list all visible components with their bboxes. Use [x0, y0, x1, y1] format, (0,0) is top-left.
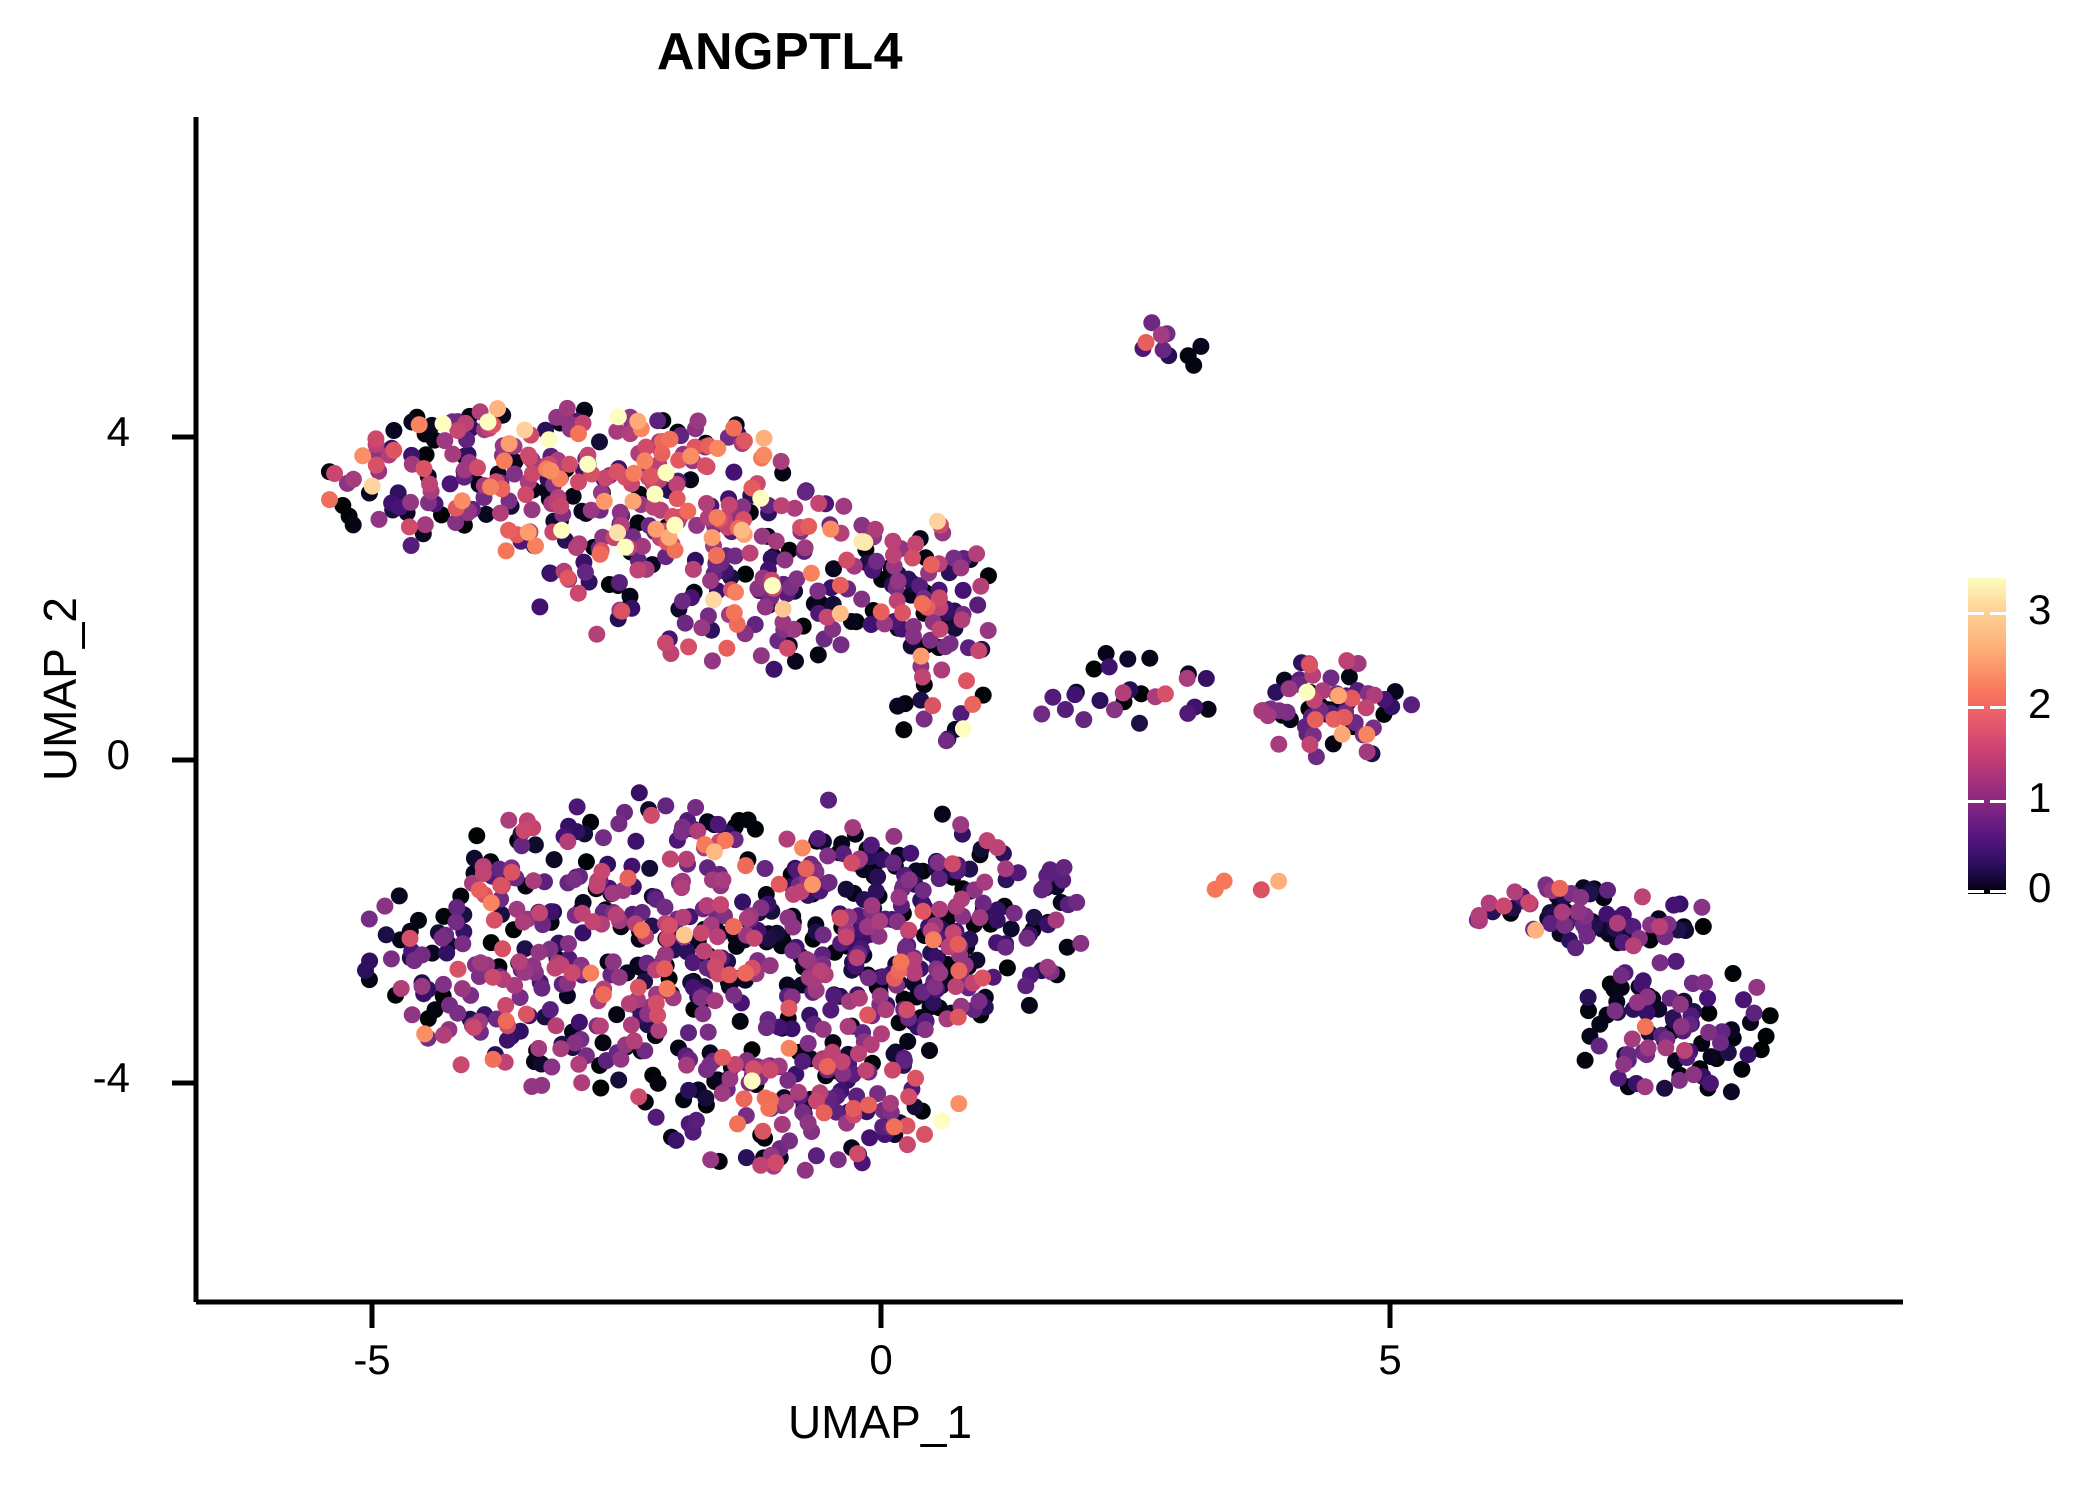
scatter-point [1676, 1042, 1693, 1059]
scatter-point [972, 578, 989, 595]
scatter-point [1762, 1007, 1779, 1024]
scatter-point [704, 529, 721, 546]
scatter-point [501, 435, 518, 452]
scatter-point [421, 476, 438, 493]
scatter-point [815, 926, 832, 943]
scatter-point [1733, 1061, 1750, 1078]
scatter-point [950, 962, 967, 979]
scatter-point [610, 815, 627, 832]
scatter-point [687, 799, 704, 816]
scatter-point [833, 636, 850, 653]
scatter-point [697, 457, 714, 474]
scatter-point [673, 824, 690, 841]
plot-area [0, 0, 2100, 1500]
scatter-point [725, 464, 742, 481]
scatter-point [840, 1018, 857, 1035]
scatter-point [1075, 711, 1092, 728]
scatter-point [820, 792, 837, 809]
scatter-point [709, 509, 726, 526]
scatter-point [1157, 685, 1174, 702]
y-tick-label-neg4: -4 [10, 1054, 130, 1102]
scatter-point [886, 1118, 903, 1135]
scatter-point [714, 1049, 731, 1066]
scatter-point [756, 430, 773, 447]
scatter-point [955, 582, 972, 599]
scatter-point [593, 863, 610, 880]
scatter-point [376, 898, 393, 915]
scatter-point [1656, 1080, 1673, 1097]
scatter-point [798, 951, 815, 968]
scatter-point [543, 1059, 560, 1076]
scatter-point [673, 879, 690, 896]
scatter-point [1702, 1075, 1719, 1092]
scatter-point [449, 422, 466, 439]
scatter-point [629, 413, 646, 430]
scatter-point [947, 978, 964, 995]
scatter-point [863, 837, 880, 854]
scatter-point [810, 646, 827, 663]
scatter-point [767, 1154, 784, 1171]
scatter-point [627, 833, 644, 850]
scatter-point [800, 518, 817, 535]
scatter-point [630, 979, 647, 996]
scatter-point [853, 533, 870, 550]
scatter-point [649, 1007, 666, 1024]
scatter-point [385, 442, 402, 459]
scatter-point [1580, 989, 1597, 1006]
scatter-point [1301, 736, 1318, 753]
scatter-point [752, 1157, 769, 1174]
scatter-point [727, 584, 744, 601]
scatter-point [757, 860, 774, 877]
scatter-point [989, 912, 1006, 929]
scatter-point [676, 926, 693, 943]
scatter-point [1253, 881, 1270, 898]
scatter-point [999, 959, 1016, 976]
scatter-point [548, 1017, 565, 1034]
scatter-point [1048, 912, 1065, 929]
scatter-point [513, 837, 530, 854]
scatter-point [737, 566, 754, 583]
scatter-point [1570, 903, 1587, 920]
scatter-point [500, 522, 517, 539]
scatter-point [816, 1104, 833, 1121]
scatter-point [819, 1058, 836, 1075]
scatter-point [518, 1006, 535, 1023]
scatter-point [815, 1021, 832, 1038]
legend-tick-mark-1-left [1968, 800, 1984, 803]
scatter-point [698, 495, 715, 512]
scatter-point [454, 492, 471, 509]
scatter-point [643, 807, 660, 824]
scatter-point [402, 930, 419, 947]
scatter-point [757, 599, 774, 616]
scatter-point [674, 593, 691, 610]
scatter-point [609, 463, 626, 480]
scatter-point [774, 1116, 791, 1133]
scatter-point [480, 414, 497, 431]
scatter-point [435, 415, 452, 432]
scatter-point [486, 912, 503, 929]
scatter-point [904, 550, 921, 567]
scatter-point [1551, 880, 1568, 897]
y-axis-title: UMAP_2 [33, 349, 87, 1029]
scatter-point [1198, 670, 1215, 687]
scatter-point [980, 622, 997, 639]
scatter-point [435, 1027, 452, 1044]
scatter-point [844, 819, 861, 836]
scatter-point [630, 1088, 647, 1105]
scatter-point [1153, 326, 1170, 343]
scatter-point [744, 1072, 761, 1089]
scatter-point [326, 465, 343, 482]
scatter-point [725, 987, 742, 1004]
scatter-point [434, 930, 451, 947]
scatter-point [1640, 1039, 1657, 1056]
scatter-point [678, 851, 695, 868]
scatter-point [718, 640, 735, 657]
scatter-point [1131, 715, 1148, 732]
scatter-point [579, 456, 596, 473]
scatter-point [929, 513, 946, 530]
scatter-point [1017, 977, 1034, 994]
scatter-point [636, 452, 653, 469]
scatter-point [1101, 658, 1118, 675]
scatter-point [402, 494, 419, 511]
scatter-point [1637, 1078, 1654, 1095]
scatter-point [678, 1057, 695, 1074]
scatter-point [704, 652, 721, 669]
scatter-point [1685, 1066, 1702, 1083]
scatter-point [788, 570, 805, 587]
scatter-point [1039, 959, 1056, 976]
scatter-point [1527, 922, 1544, 939]
x-tick-label-neg5: -5 [312, 1336, 432, 1384]
umap-feature-plot: ANGPTL4 4 0 -4 -5 0 5 UMAP_1 UMAP_2 3 [0, 0, 2100, 1500]
scatter-point [775, 601, 792, 618]
scatter-point [361, 953, 378, 970]
scatter-point [595, 829, 612, 846]
scatter-point [950, 1009, 967, 1026]
scatter-point [706, 843, 723, 860]
scatter-point [1281, 680, 1298, 697]
scatter-point [371, 511, 388, 528]
scatter-point [742, 545, 759, 562]
scatter-point [530, 1040, 547, 1057]
scatter-point [851, 990, 868, 1007]
scatter-point [656, 960, 673, 977]
scatter-point [414, 978, 431, 995]
scatter-point [766, 661, 783, 678]
scatter-point [952, 559, 969, 576]
scatter-point [725, 420, 742, 437]
scatter-point [832, 577, 849, 594]
scatter-point [1572, 889, 1589, 906]
scatter-point [649, 412, 666, 429]
scatter-point [584, 913, 601, 930]
scatter-point [882, 1095, 899, 1112]
scatter-point [849, 949, 866, 966]
scatter-point [822, 1002, 839, 1019]
scatter-point [914, 595, 931, 612]
scatter-point [971, 993, 988, 1010]
scatter-point [547, 960, 564, 977]
scatter-point [570, 425, 587, 442]
scatter-point [931, 901, 948, 918]
scatter-point [496, 452, 513, 469]
scatter-point [417, 516, 434, 533]
scatter-point [1665, 897, 1682, 914]
scatter-point [595, 1034, 612, 1051]
scatter-point [707, 992, 724, 1009]
scatter-point [752, 490, 769, 507]
scatter-point [1068, 894, 1085, 911]
scatter-point [1672, 996, 1689, 1013]
scatter-point [809, 583, 826, 600]
scatter-point [979, 832, 996, 849]
scatter-point [625, 493, 642, 510]
scatter-point [907, 1070, 924, 1087]
scatter-point [1066, 686, 1083, 703]
scatter-point [685, 561, 702, 578]
scatter-point [626, 1032, 643, 1049]
scatter-point [401, 518, 418, 535]
scatter-point [1735, 991, 1752, 1008]
scatter-point [492, 505, 509, 522]
scatter-point [938, 732, 955, 749]
scatter-point [901, 871, 918, 888]
scatter-point [1495, 898, 1512, 915]
scatter-point [1359, 743, 1376, 760]
scatter-point [798, 860, 815, 877]
scatter-point [485, 1051, 502, 1068]
scatter-point [860, 1097, 877, 1114]
scatter-point [873, 603, 890, 620]
scatter-point [666, 517, 683, 534]
scatter-point [804, 876, 821, 893]
scatter-point [693, 925, 710, 942]
scatter-point [361, 911, 378, 928]
scatter-point [542, 1001, 559, 1018]
scatter-point [591, 433, 608, 450]
scatter-point [812, 963, 829, 980]
scatter-point [773, 453, 790, 470]
legend-tick-mark-0-right [1990, 890, 2006, 893]
scatter-point [830, 1151, 847, 1168]
scatter-point [454, 935, 471, 952]
scatter-point [934, 1112, 951, 1129]
scatter-point [561, 456, 578, 473]
scatter-point [697, 1090, 714, 1107]
scatter-point [794, 1053, 811, 1070]
scatter-point [864, 897, 881, 914]
scatter-point [610, 1072, 627, 1089]
scatter-point [779, 640, 796, 657]
scatter-point [1607, 1002, 1624, 1019]
scatter-point [592, 1080, 609, 1097]
scatter-point [1673, 1018, 1690, 1035]
scatter-point [933, 662, 950, 679]
scatter-point [705, 591, 722, 608]
scatter-point [1270, 873, 1287, 890]
scatter-point [895, 721, 912, 738]
scatter-point [1693, 899, 1710, 916]
scatter-point [1334, 726, 1351, 743]
scatter-point [952, 816, 969, 833]
scatter-point [406, 952, 423, 969]
scatter-point [1699, 990, 1716, 1007]
scatter-point [917, 1021, 934, 1038]
scatter-point [521, 449, 538, 466]
scatter-point [1758, 1028, 1775, 1045]
scatter-point [923, 556, 940, 573]
scatter-point [797, 539, 814, 556]
scatter-point [790, 1084, 807, 1101]
scatter-point [800, 1114, 817, 1131]
scatter-point [566, 871, 583, 888]
scatter-point [559, 400, 576, 417]
scatter-point [803, 565, 820, 582]
scatter-point [525, 872, 542, 889]
scatter-point [1138, 334, 1155, 351]
legend-tick-mark-3-right [1990, 612, 2006, 615]
scatter-point [621, 995, 638, 1012]
scatter-point [838, 881, 855, 898]
scatter-point [588, 626, 605, 643]
scatter-point [641, 860, 658, 877]
scatter-point [1700, 1024, 1717, 1041]
scatter-point [832, 605, 849, 622]
scatter-point [1625, 937, 1642, 954]
scatter-point [1613, 967, 1630, 984]
scatter-point [484, 969, 501, 986]
scatter-point [1615, 1056, 1632, 1073]
scatter-point [604, 885, 621, 902]
scatter-point [758, 1019, 775, 1036]
scatter-point [367, 430, 384, 447]
scatter-point [779, 831, 796, 848]
scatter-point [997, 860, 1014, 877]
scatter-point [657, 797, 674, 814]
scatter-point [822, 521, 839, 538]
scatter-point [797, 484, 814, 501]
scatter-point [592, 1018, 609, 1035]
scatter-point [492, 877, 509, 894]
scatter-point [620, 870, 637, 887]
scatter-point [623, 1017, 640, 1034]
scatter-plot-svg [0, 0, 2100, 1500]
scatter-point [950, 936, 967, 953]
scatter-point [915, 903, 932, 920]
scatter-point [1700, 1005, 1717, 1022]
scatter-point [650, 1022, 667, 1039]
scatter-point [843, 854, 860, 871]
scatter-point [891, 889, 908, 906]
scatter-point [1657, 1039, 1674, 1056]
scatter-point [497, 997, 514, 1014]
scatter-point [500, 812, 517, 829]
data-points-layer [321, 314, 1779, 1179]
scatter-point [1330, 687, 1347, 704]
scatter-point [738, 1149, 755, 1166]
scatter-point [1358, 699, 1375, 716]
legend-tick-mark-2-right [1990, 706, 2006, 709]
scatter-point [595, 986, 612, 1003]
scatter-point [845, 1100, 862, 1117]
x-tick-label-5: 5 [1330, 1336, 1450, 1384]
scatter-point [1703, 1048, 1720, 1065]
scatter-point [1746, 1005, 1763, 1022]
scatter-point [515, 914, 532, 931]
legend-tick-label-2: 2 [2028, 680, 2051, 728]
scatter-point [482, 479, 499, 496]
scatter-point [531, 944, 548, 961]
scatter-point [1725, 965, 1742, 982]
scatter-point [861, 1129, 878, 1146]
scatter-point [354, 447, 371, 464]
scatter-point [1115, 684, 1132, 701]
scatter-point [974, 970, 991, 987]
legend-tick-label-1: 1 [2028, 774, 2051, 822]
scatter-point [1106, 701, 1123, 718]
scatter-point [693, 619, 710, 636]
scatter-point [568, 539, 585, 556]
scatter-point [929, 854, 946, 871]
scatter-point [559, 833, 576, 850]
scatter-point [1216, 873, 1233, 890]
scatter-point [737, 965, 754, 982]
scatter-point [907, 535, 924, 552]
scatter-point [378, 926, 395, 943]
scatter-point [524, 501, 541, 518]
scatter-point [1668, 953, 1685, 970]
scatter-point [1056, 859, 1073, 876]
scatter-point [877, 1001, 894, 1018]
scatter-point [1057, 701, 1074, 718]
scatter-point [411, 416, 428, 433]
scatter-point [932, 621, 949, 638]
scatter-point [1141, 650, 1158, 667]
scatter-point [916, 1126, 933, 1143]
x-tick-label-0: 0 [821, 1336, 941, 1384]
scatter-point [700, 1024, 717, 1041]
scatter-point [577, 564, 594, 581]
scatter-point [1471, 907, 1488, 924]
scatter-point [821, 874, 838, 891]
scatter-point [1579, 927, 1596, 944]
scatter-point [714, 871, 731, 888]
scatter-point [629, 562, 646, 579]
scatter-point [475, 865, 492, 882]
scatter-point [680, 638, 697, 655]
scatter-point [1506, 883, 1523, 900]
scatter-point [712, 896, 729, 913]
scatter-point [571, 1014, 588, 1031]
scatter-point [648, 1109, 665, 1126]
scatter-point [448, 899, 465, 916]
scatter-point [1092, 692, 1109, 709]
scatter-point [523, 1078, 540, 1095]
scatter-point [393, 980, 410, 997]
scatter-point [934, 806, 951, 823]
scatter-point [859, 1007, 876, 1024]
scatter-point [869, 868, 886, 885]
scatter-point [573, 1074, 590, 1091]
scatter-point [416, 460, 433, 477]
scatter-point [1185, 357, 1202, 374]
scatter-point [1591, 1038, 1608, 1055]
scatter-point [472, 954, 489, 971]
